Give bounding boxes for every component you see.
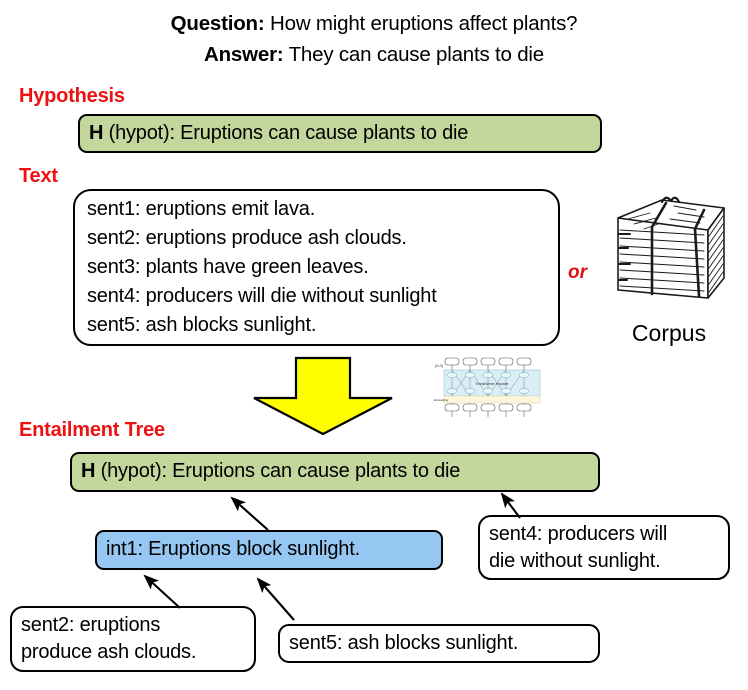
down-arrow-icon (252, 356, 394, 436)
sentence-4: sent4: producers will die without sunlig… (75, 282, 449, 311)
section-label-hypothesis: Hypothesis (19, 85, 125, 108)
hypothesis-box: H (hypot): Eruptions can cause plants to… (78, 114, 602, 153)
question-label: Question: (171, 12, 265, 35)
section-label-entailment-tree: Entailment Tree (19, 419, 165, 442)
answer-line: Answer: They can cause plants to die (0, 43, 748, 67)
edge-int1-to-root (232, 498, 268, 530)
tree-edge-arrows (0, 440, 748, 690)
question-text: How might eruptions affect plants? (265, 12, 578, 35)
section-label-text: Text (19, 165, 58, 188)
hypothesis-text: (hypot): Eruptions can cause plants to d… (103, 122, 468, 144)
edge-sent5-to-int1 (258, 579, 294, 620)
transformer-encoder-icon: Transformer encoder [CLS] Embedding (432, 354, 544, 420)
svg-text:[CLS]: [CLS] (435, 364, 443, 368)
figure-canvas: Question: How might eruptions affect pla… (0, 0, 748, 690)
svg-text:Embedding: Embedding (434, 398, 449, 402)
answer-label: Answer: (204, 43, 283, 66)
paper-stack-icon (600, 186, 738, 311)
or-label: or (568, 262, 587, 284)
corpus-caption: Corpus (600, 320, 738, 347)
hypothesis-prefix: H (89, 122, 103, 144)
edge-sent4-to-root (502, 494, 520, 518)
edge-sent2-to-int1 (145, 576, 180, 608)
sentence-2: sent2: eruptions produce ash clouds. (75, 224, 419, 253)
sentence-5: sent5: ash blocks sunlight. (75, 311, 328, 340)
answer-text: They can cause plants to die (283, 43, 544, 66)
sentence-3: sent3: plants have green leaves. (75, 253, 381, 282)
text-sentences-box: sent1: eruptions emit lava. sent2: erupt… (73, 189, 560, 346)
sentence-1: sent1: eruptions emit lava. (75, 195, 327, 224)
question-line: Question: How might eruptions affect pla… (0, 12, 748, 36)
